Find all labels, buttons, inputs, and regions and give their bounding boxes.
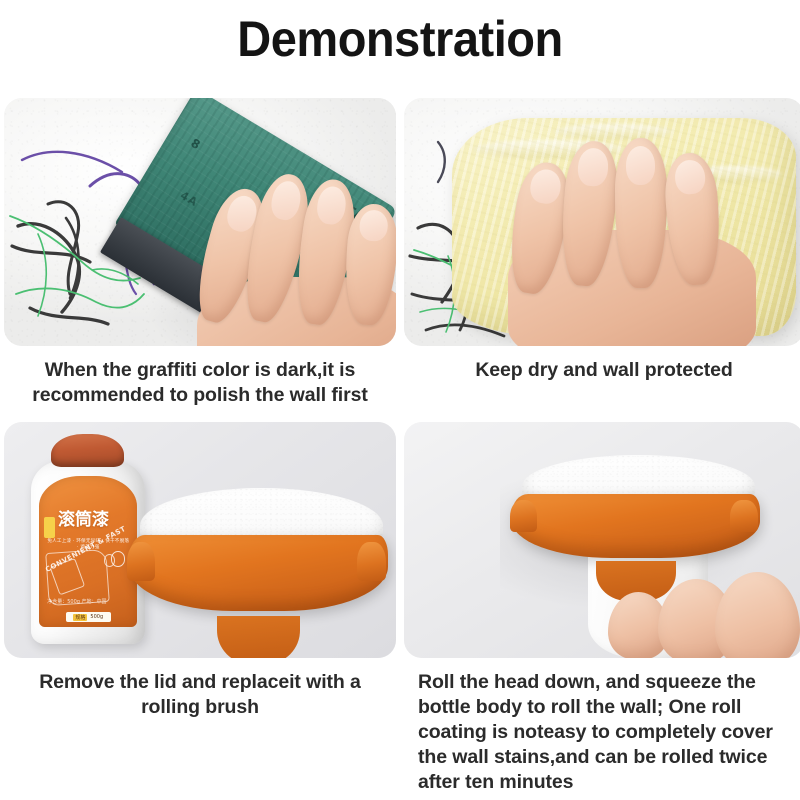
- roller-frame: [512, 494, 760, 558]
- hand-squeezing-bottle: [604, 564, 796, 658]
- roller-ear-left: [510, 500, 537, 532]
- hand-holding-sponge: [192, 162, 396, 346]
- fingernail: [674, 159, 705, 195]
- label-weight-tag: 规格: [73, 614, 87, 621]
- label-weight-strip: 规格 500g: [66, 612, 111, 623]
- fingernail: [359, 209, 389, 242]
- roller-ear-left: [127, 542, 155, 580]
- page-title: Demonstration: [24, 8, 776, 70]
- fingernail: [529, 167, 563, 206]
- label-title: 滚筒漆: [58, 511, 109, 529]
- demo-panel-sanding: QATAO SA 8 4A When the graf: [4, 98, 396, 408]
- roller-ear-right: [357, 542, 385, 580]
- fingernail: [626, 146, 655, 185]
- finger: [615, 138, 667, 287]
- label-badge-secondary: [104, 554, 115, 567]
- demo-panel-replace-lid: 滚筒漆 免人工上漆 · 环保无异味 · 快干不脱落 · 遮盖力强 CONVENI…: [4, 422, 396, 795]
- label-weight-value: 500g: [90, 614, 103, 620]
- photo-sanding-sponge: QATAO SA 8 4A: [4, 98, 396, 346]
- caption-rolling: Roll the head down, and squeeze the bott…: [404, 658, 800, 795]
- photo-bottle-and-roller: 滚筒漆 免人工上漆 · 环保无异味 · 快干不脱落 · 遮盖力强 CONVENI…: [4, 422, 396, 658]
- demo-panel-rolling: Roll the head down, and squeeze the bott…: [404, 422, 800, 795]
- caption-replace-lid: Remove the lid and replaceit with a roll…: [4, 658, 396, 720]
- bottle-cap: [51, 434, 124, 468]
- photo-rolling-on-wall: [404, 422, 800, 658]
- roller-brush-head: [129, 488, 388, 630]
- hand-wiping: [508, 128, 756, 341]
- demonstration-page: Demonstration: [0, 0, 800, 800]
- roller-frame: [129, 535, 388, 611]
- roller-brush-head: [512, 455, 760, 573]
- caption-sanding: When the graffiti color is dark,it is re…: [4, 346, 396, 408]
- fingernail: [315, 185, 348, 226]
- demo-panel-grid: QATAO SA 8 4A When the graf: [0, 98, 800, 795]
- sponge-print-line-3: 8: [187, 136, 202, 153]
- demo-panel-wipe: Keep dry and wall protected: [404, 98, 800, 408]
- fingernail: [269, 179, 305, 223]
- roller-neck: [217, 616, 300, 659]
- photo-wiping-cloth: [404, 98, 800, 346]
- label-footer: 净含量：500g 产地：中国: [47, 599, 106, 606]
- fingernail: [576, 147, 608, 187]
- bottle-label: 滚筒漆 免人工上漆 · 环保无异味 · 快干不脱落 · 遮盖力强 CONVENI…: [39, 476, 137, 627]
- caption-wipe: Keep dry and wall protected: [404, 346, 800, 383]
- label-yellow-tag: [44, 517, 55, 538]
- paint-bottle: 滚筒漆 免人工上漆 · 环保无异味 · 快干不脱落 · 遮盖力强 CONVENI…: [31, 434, 145, 644]
- roller-ear-right: [730, 500, 757, 532]
- thumb: [715, 572, 799, 658]
